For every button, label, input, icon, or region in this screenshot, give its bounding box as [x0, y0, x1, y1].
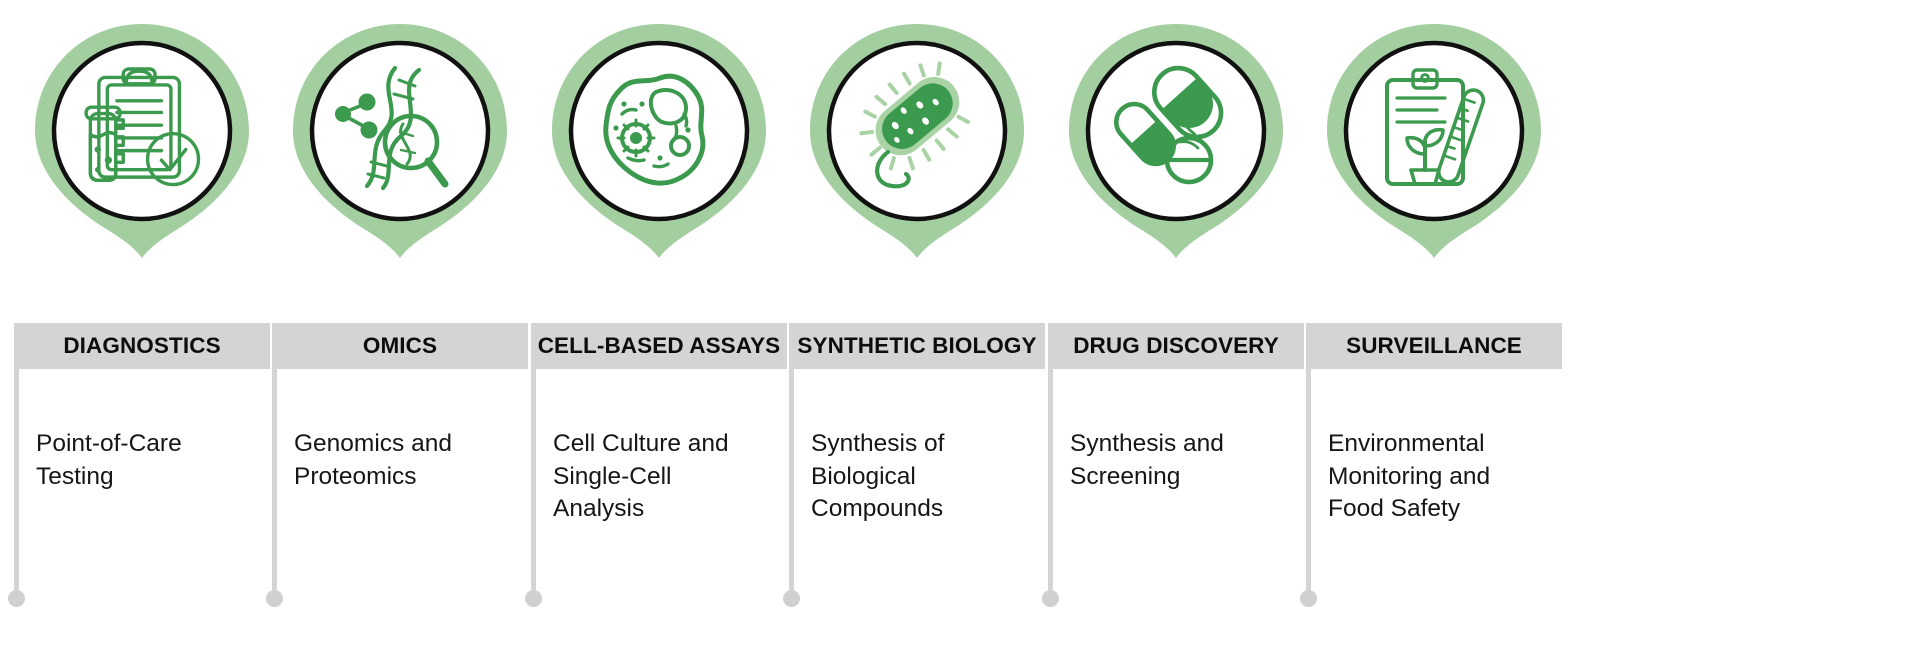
column-description: Synthesis of Biological Compounds: [811, 428, 1041, 526]
pin-diagnostics: [14, 22, 270, 262]
column-description: Environmental Monitoring and Food Safety: [1328, 428, 1558, 526]
rail-end-dot: [1042, 590, 1059, 607]
column-description: Genomics and Proteomics: [294, 428, 524, 493]
connector-rail-diagnostics: [14, 369, 19, 592]
header-bar-omics[interactable]: OMICS: [272, 323, 528, 369]
connector-rail-surveillance: [1306, 369, 1311, 592]
column-synthetic-biology: SYNTHETIC BIOLOGY Synthesis of Biologica…: [789, 0, 1045, 649]
rail-end-dot: [525, 590, 542, 607]
pin-cell-based-assays: [531, 22, 787, 262]
rail-end-dot: [8, 590, 25, 607]
pin-surveillance: [1306, 22, 1562, 262]
header-bar-cell-based-assays[interactable]: CELL-BASED ASSAYS: [531, 323, 787, 369]
header-bar-surveillance[interactable]: SURVEILLANCE: [1306, 323, 1562, 369]
process-infographic: DIAGNOSTICS Point-of-Care Testing: [0, 0, 1920, 649]
column-title: DRUG DISCOVERY: [1073, 335, 1279, 358]
connector-rail-drug-discovery: [1048, 369, 1053, 592]
column-title: OMICS: [363, 335, 437, 358]
pin-shape-surveillance: [1325, 22, 1543, 260]
column-description: Synthesis and Screening: [1070, 428, 1300, 493]
column-diagnostics: DIAGNOSTICS Point-of-Care Testing: [14, 0, 270, 649]
rail-end-dot: [1300, 590, 1317, 607]
column-title: SURVEILLANCE: [1346, 335, 1522, 358]
column-drug-discovery: DRUG DISCOVERY Synthesis and Screening: [1048, 0, 1304, 649]
header-bar-drug-discovery[interactable]: DRUG DISCOVERY: [1048, 323, 1304, 369]
column-surveillance: SURVEILLANCE Environmental Monitoring an…: [1306, 0, 1562, 649]
column-title: DIAGNOSTICS: [63, 335, 220, 358]
pin-omics: [272, 22, 528, 262]
column-description: Cell Culture and Single-Cell Analysis: [553, 428, 783, 526]
pin-shape-diagnostics: [33, 22, 251, 260]
connector-rail-synthetic-biology: [789, 369, 794, 592]
column-omics: OMICS Genomics and Proteomics: [272, 0, 528, 649]
pin-drug-discovery: [1048, 22, 1304, 262]
column-cell-based-assays: CELL-BASED ASSAYS Cell Culture and Singl…: [531, 0, 787, 649]
column-description: Point-of-Care Testing: [36, 428, 266, 493]
column-title: CELL-BASED ASSAYS: [538, 335, 781, 358]
connector-rail-cell-based-assays: [531, 369, 536, 592]
pin-shape-cell-based-assays: [550, 22, 768, 260]
header-bar-synthetic-biology[interactable]: SYNTHETIC BIOLOGY: [789, 323, 1045, 369]
pin-shape-synthetic-biology: [808, 22, 1026, 260]
pin-shape-drug-discovery: [1067, 22, 1285, 260]
column-title: SYNTHETIC BIOLOGY: [797, 335, 1036, 358]
pin-shape-omics: [291, 22, 509, 260]
rail-end-dot: [783, 590, 800, 607]
header-bar-diagnostics[interactable]: DIAGNOSTICS: [14, 323, 270, 369]
rail-end-dot: [266, 590, 283, 607]
connector-rail-omics: [272, 369, 277, 592]
pin-synthetic-biology: [789, 22, 1045, 262]
